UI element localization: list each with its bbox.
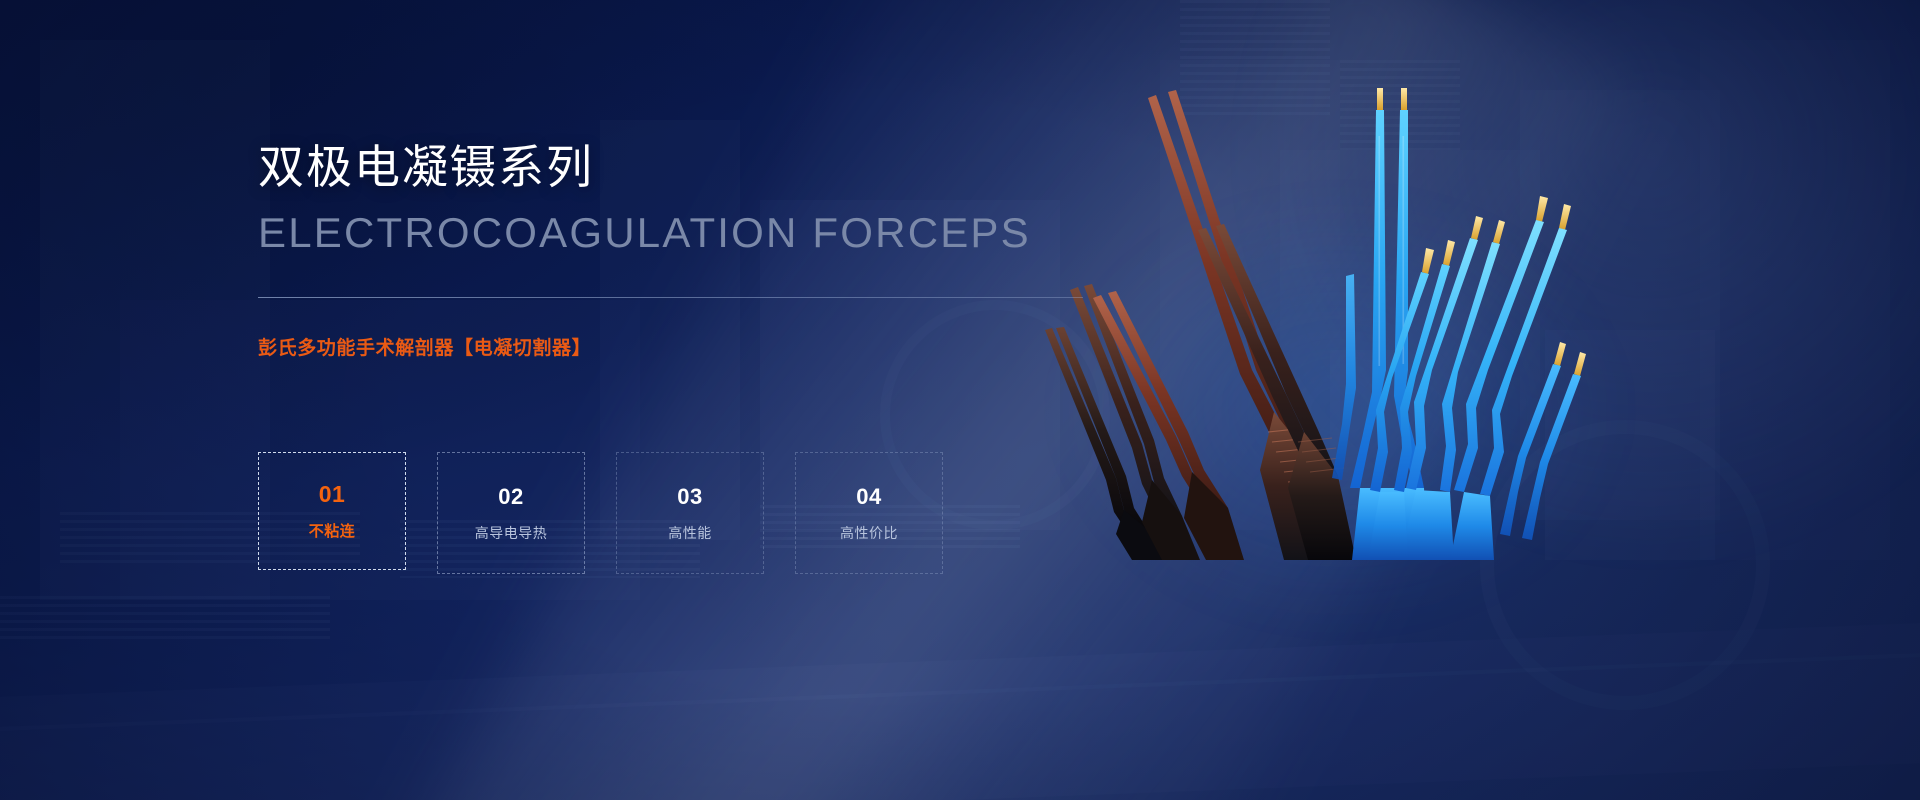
feature-item-02[interactable]: 02 高导电导热 — [437, 452, 585, 574]
feature-label: 不粘连 — [309, 524, 356, 539]
forceps-fan — [1045, 88, 1586, 560]
feature-list: 01 不粘连 02 高导电导热 03 高性能 04 高性价比 — [258, 452, 943, 574]
feature-label: 高导电导热 — [475, 526, 548, 540]
feature-item-04[interactable]: 04 高性价比 — [795, 452, 943, 574]
forceps-blue-back — [1332, 274, 1356, 480]
feature-number: 02 — [498, 486, 523, 508]
feature-item-03[interactable]: 03 高性能 — [616, 452, 764, 574]
forceps-cyan-tall — [1350, 88, 1428, 560]
feature-number: 04 — [856, 486, 881, 508]
product-banner: 双极电凝镊系列 ELECTROCOAGULATION FORCEPS 彭氏多功能… — [0, 0, 1920, 800]
feature-item-01[interactable]: 01 不粘连 — [258, 452, 406, 570]
page-subtitle-english: ELECTROCOAGULATION FORCEPS — [258, 212, 1031, 254]
feature-number: 01 — [319, 483, 346, 506]
feature-label: 高性能 — [668, 526, 712, 540]
title-divider — [258, 297, 1083, 298]
product-tagline: 彭氏多功能手术解剖器【电凝切割器】 — [258, 339, 591, 358]
feature-label: 高性价比 — [840, 526, 898, 540]
feature-number: 03 — [677, 486, 702, 508]
page-title: 双极电凝镊系列 — [258, 144, 594, 190]
banner-content: 双极电凝镊系列 ELECTROCOAGULATION FORCEPS 彭氏多功能… — [258, 0, 1098, 800]
